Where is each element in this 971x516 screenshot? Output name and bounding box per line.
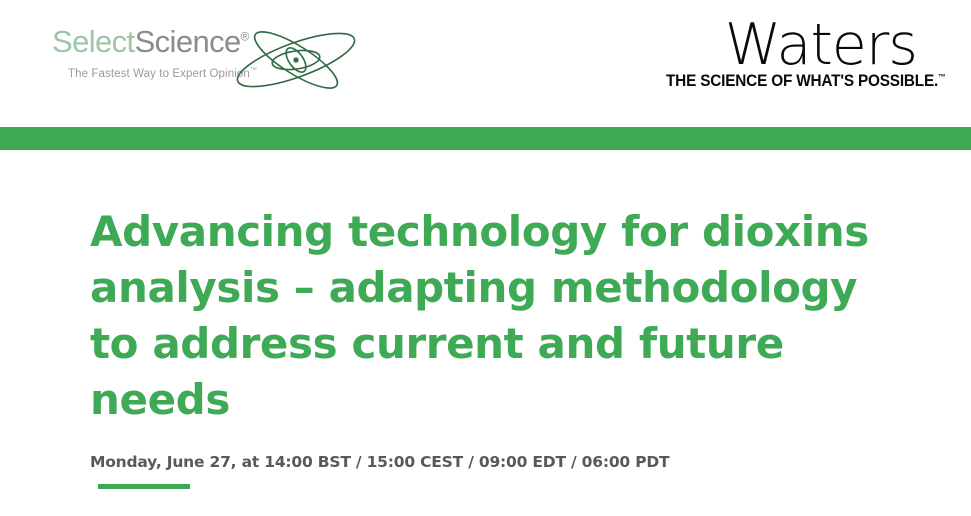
slide-header: SelectScience® The Fastest Way to Expert… xyxy=(0,0,971,127)
slide-body: Advancing technology for dioxins analysi… xyxy=(0,150,971,516)
green-divider-bar xyxy=(0,127,971,150)
webinar-title-slide: SelectScience® The Fastest Way to Expert… xyxy=(0,0,971,516)
accent-underline xyxy=(98,484,190,489)
waters-tagline: THE SCIENCE OF WHAT'S POSSIBLE.™ xyxy=(666,72,945,91)
atom-nucleus-icon xyxy=(293,57,298,62)
waters-wordmark: Waters xyxy=(725,16,917,76)
selectscience-tagline-text: The Fastest Way to Expert Opinion xyxy=(68,68,250,80)
selectscience-logo[interactable]: SelectScience® The Fastest Way to Expert… xyxy=(50,22,360,100)
waters-tagline-text: THE SCIENCE OF WHAT'S POSSIBLE. xyxy=(666,72,938,90)
waters-trademark-icon: ™ xyxy=(938,73,945,82)
waters-logo[interactable]: Waters THE SCIENCE OF WHAT'S POSSIBLE.™ xyxy=(645,16,945,100)
atom-orbital-icon xyxy=(226,18,366,102)
webinar-datetime: Monday, June 27, at 14:00 BST / 15:00 CE… xyxy=(90,453,669,471)
selectscience-wordmark: SelectScience® xyxy=(52,26,250,57)
page-title: Advancing technology for dioxins analysi… xyxy=(90,204,900,427)
selectscience-wordmark-science: Science xyxy=(135,24,241,59)
selectscience-wordmark-select: Select xyxy=(52,24,135,59)
